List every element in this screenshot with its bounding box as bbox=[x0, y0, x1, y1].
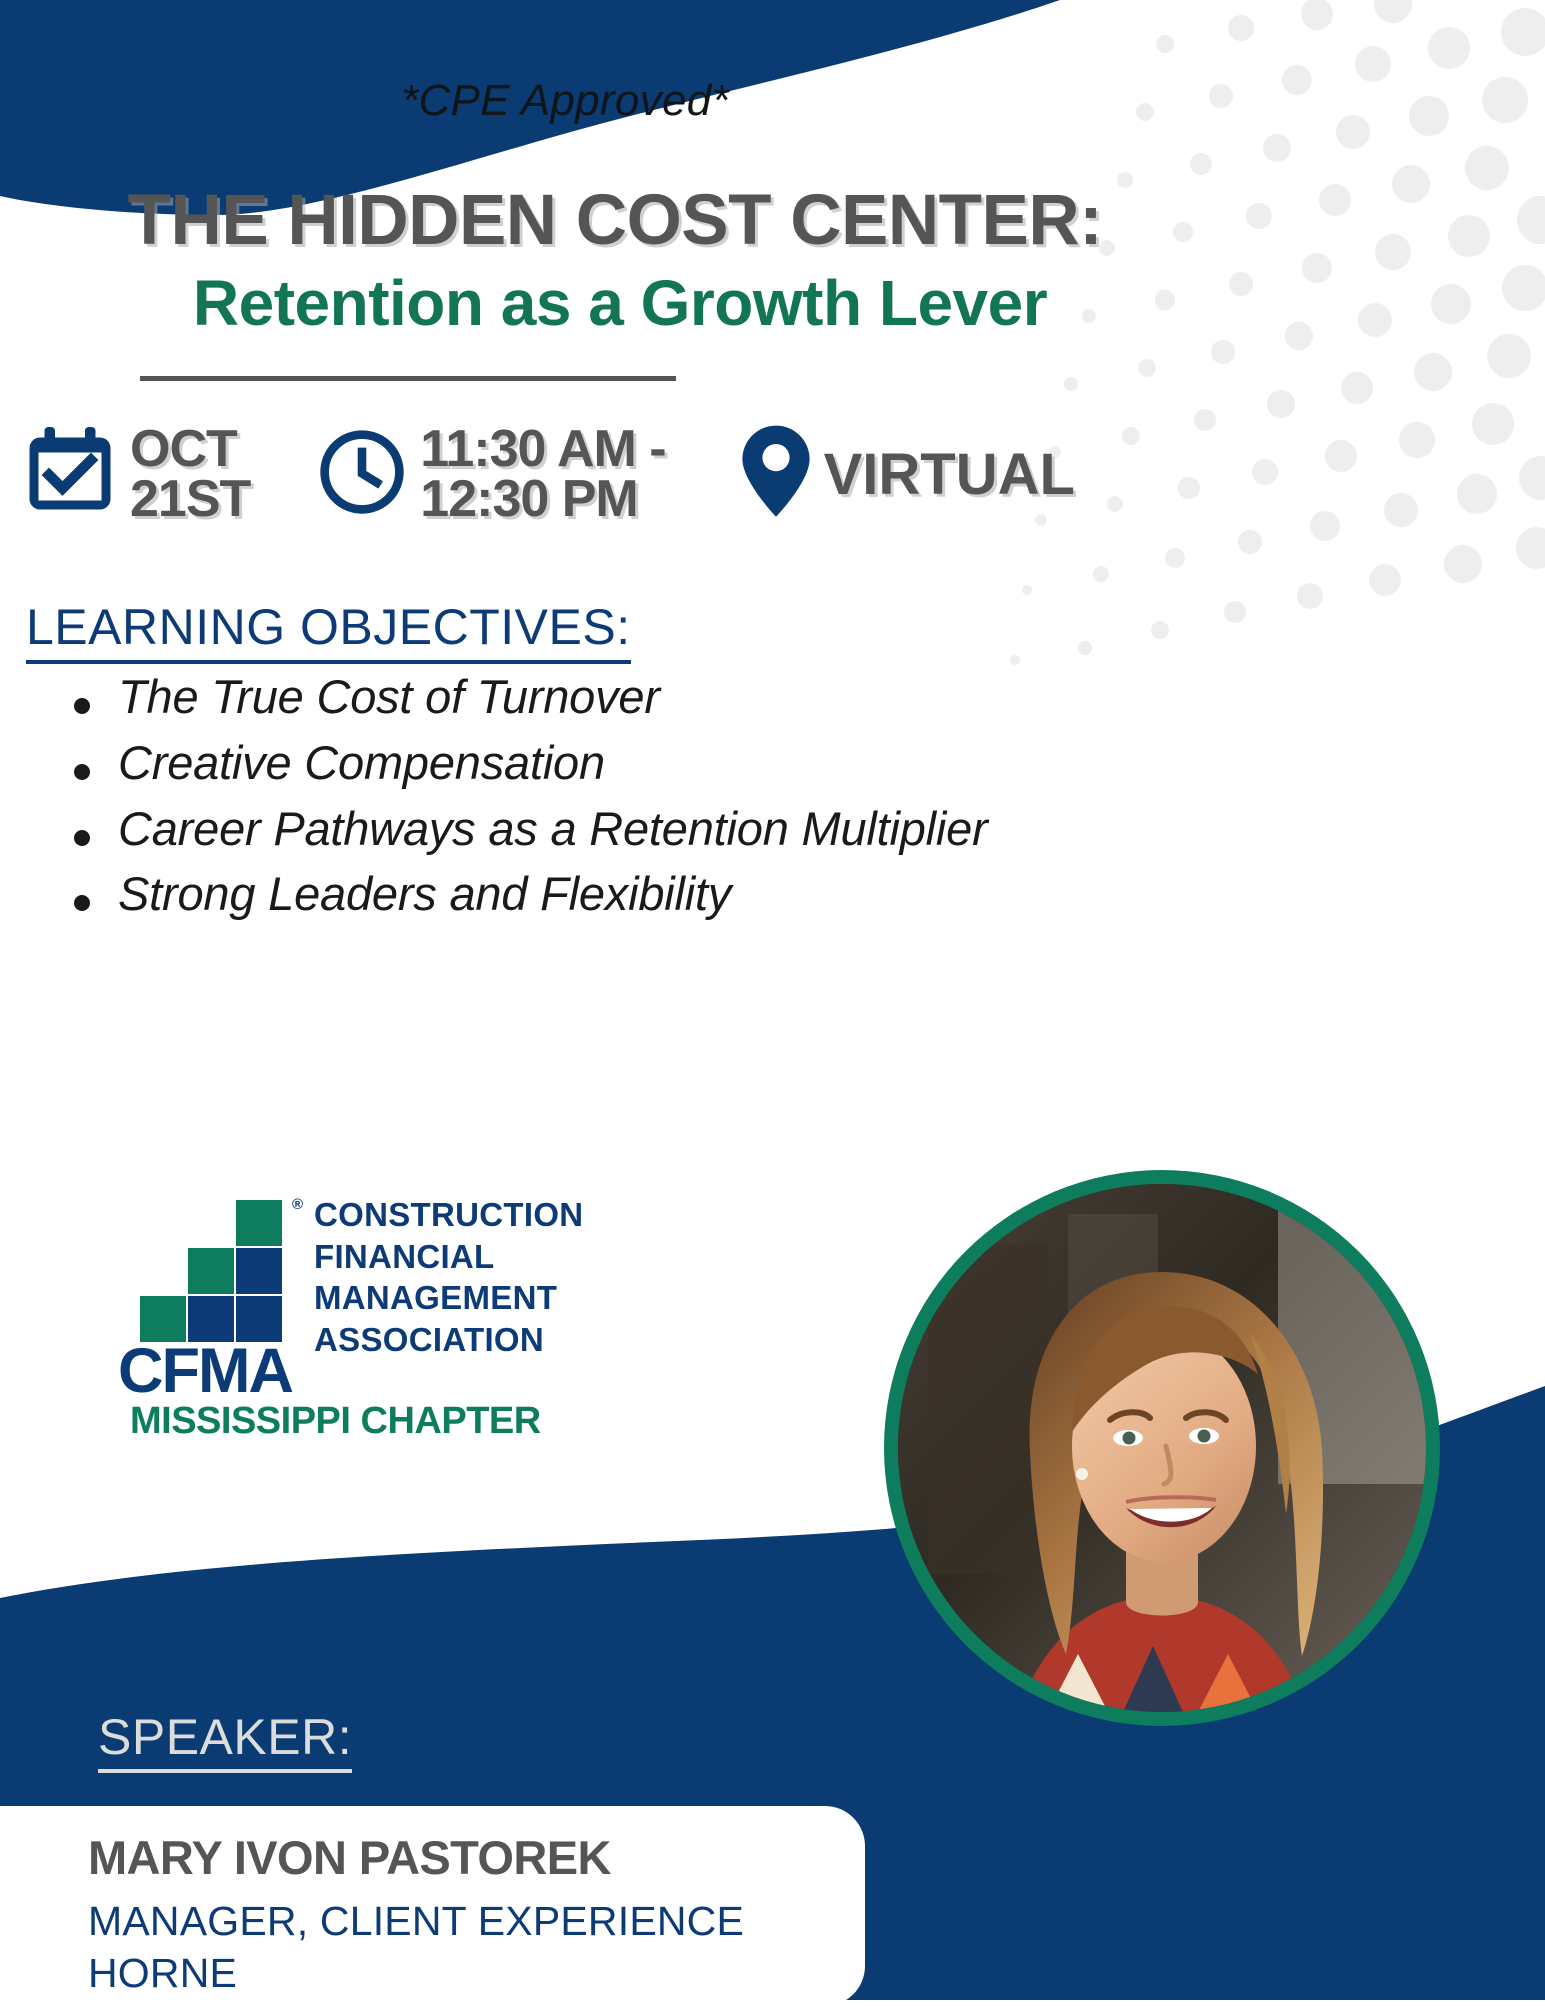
calendar-check-icon bbox=[22, 424, 118, 525]
list-item: Creative Compensation bbox=[60, 738, 1310, 788]
event-date-text: OCT 21ST bbox=[130, 425, 250, 525]
speaker-company: HORNE bbox=[88, 1947, 865, 1999]
event-date: OCT 21ST bbox=[22, 424, 250, 525]
logo-square bbox=[188, 1248, 234, 1294]
logo-square bbox=[236, 1200, 282, 1246]
speaker-label: SPEAKER: bbox=[98, 1708, 352, 1773]
event-time-text: 11:30 AM - 12:30 PM bbox=[420, 425, 665, 525]
speaker-info-card: MARY IVON PASTOREK MANAGER, CLIENT EXPER… bbox=[0, 1806, 865, 2006]
cfma-name-line: ASSOCIATION bbox=[314, 1319, 583, 1361]
cpe-approved-badge: *CPE Approved* bbox=[0, 76, 1130, 126]
cfma-name-line: MANAGEMENT bbox=[314, 1277, 583, 1319]
cfma-chapter-name: MISSISSIPPI CHAPTER bbox=[130, 1400, 541, 1443]
speaker-name: MARY IVON PASTOREK bbox=[88, 1834, 865, 1881]
clock-icon bbox=[316, 426, 408, 523]
event-location-text: VIRTUAL bbox=[824, 447, 1075, 503]
logo-square bbox=[236, 1248, 282, 1294]
speaker-photo-ring bbox=[884, 1170, 1440, 1726]
event-location: VIRTUAL bbox=[740, 424, 1075, 525]
cfma-name-line: FINANCIAL bbox=[314, 1236, 583, 1278]
list-item: The True Cost of Turnover bbox=[60, 672, 1310, 722]
learning-objectives-list: The True Cost of Turnover Creative Compe… bbox=[60, 672, 1310, 935]
event-meta-row: OCT 21ST 11:30 AM - 12:30 PM VIRTUAL bbox=[22, 424, 1522, 525]
page-title: THE HIDDEN COST CENTER: bbox=[0, 185, 1230, 256]
learning-objectives-heading: LEARNING OBJECTIVES: bbox=[26, 598, 631, 664]
cfma-logo-mark: ® bbox=[140, 1200, 290, 1348]
cfma-name-lines: CONSTRUCTION FINANCIAL MANAGEMENT ASSOCI… bbox=[314, 1194, 583, 1360]
title-divider bbox=[140, 376, 676, 381]
page-subtitle: Retention as a Growth Lever bbox=[0, 268, 1240, 338]
registered-trademark-icon: ® bbox=[292, 1196, 303, 1213]
cfma-name-line: CONSTRUCTION bbox=[314, 1194, 583, 1236]
event-time: 11:30 AM - 12:30 PM bbox=[316, 425, 665, 525]
list-item: Career Pathways as a Retention Multiplie… bbox=[60, 804, 1310, 854]
list-item: Strong Leaders and Flexibility bbox=[60, 869, 1310, 919]
map-pin-icon bbox=[740, 424, 812, 525]
cfma-acronym: CFMA bbox=[118, 1340, 292, 1403]
cfma-logo: ® CFMA CONSTRUCTION FINANCIAL MANAGEMENT… bbox=[118, 1200, 290, 1348]
speaker-title: MANAGER, CLIENT EXPERIENCE bbox=[88, 1895, 865, 1947]
avatar bbox=[898, 1184, 1426, 1712]
